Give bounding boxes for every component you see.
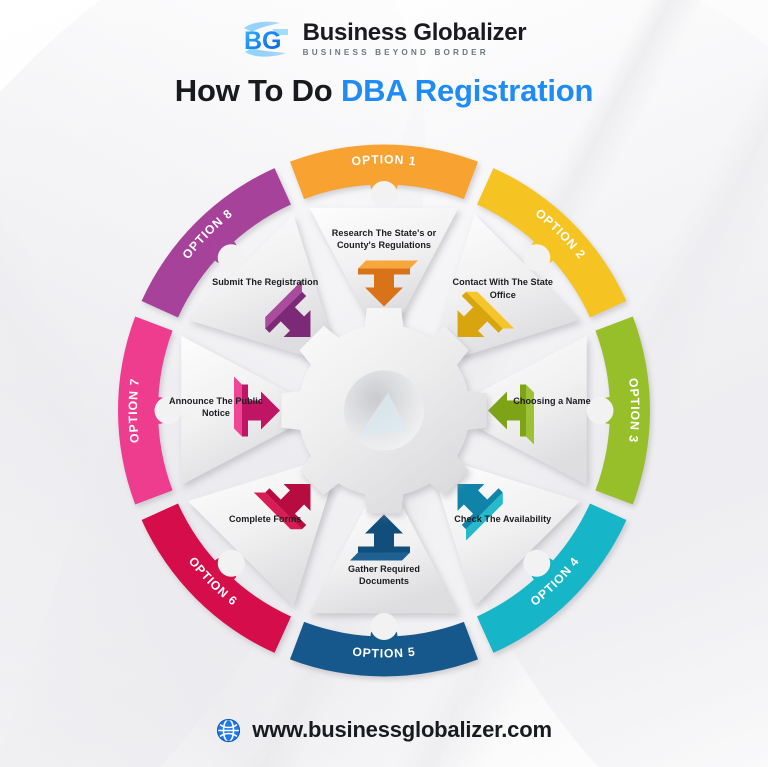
process-wheel-graphic: OPTION 1OPTION 2OPTION 3OPTION 4OPTION 5… bbox=[112, 138, 657, 683]
page-title: How To Do DBA Registration bbox=[0, 73, 768, 109]
wheel-panel-notch-8 bbox=[218, 244, 245, 271]
brand-tagline: BUSINESS BEYOND BORDER bbox=[303, 49, 527, 57]
wheel-panel-notch-3 bbox=[587, 397, 614, 424]
wheel-panel-notch-4 bbox=[523, 550, 550, 577]
header: BG Business Globalizer BUSINESS BEYOND B… bbox=[0, 0, 768, 109]
wheel-panel-notch-2 bbox=[523, 244, 550, 271]
wheel-panel-notch-5 bbox=[371, 613, 398, 640]
globe-icon bbox=[216, 718, 241, 743]
brand-name: Business Globalizer bbox=[303, 21, 527, 45]
page-title-accent: DBA Registration bbox=[341, 73, 593, 108]
website-url: www.businessglobalizer.com bbox=[252, 717, 552, 743]
footer: www.businessglobalizer.com bbox=[0, 717, 768, 743]
brand-lockup: BG Business Globalizer BUSINESS BEYOND B… bbox=[0, 17, 768, 61]
wheel-panel-notch-7 bbox=[155, 397, 182, 424]
wheel-panel-notch-6 bbox=[218, 550, 245, 577]
wheel-panel-notch-1 bbox=[371, 181, 398, 208]
brand-text: Business Globalizer BUSINESS BEYOND BORD… bbox=[303, 21, 527, 57]
page-title-lead: How To Do bbox=[175, 73, 341, 108]
process-wheel: OPTION 1OPTION 2OPTION 3OPTION 4OPTION 5… bbox=[0, 138, 768, 683]
infographic-page: BG Business Globalizer BUSINESS BEYOND B… bbox=[0, 0, 768, 767]
bg-monogram-icon: BG bbox=[242, 19, 294, 59]
